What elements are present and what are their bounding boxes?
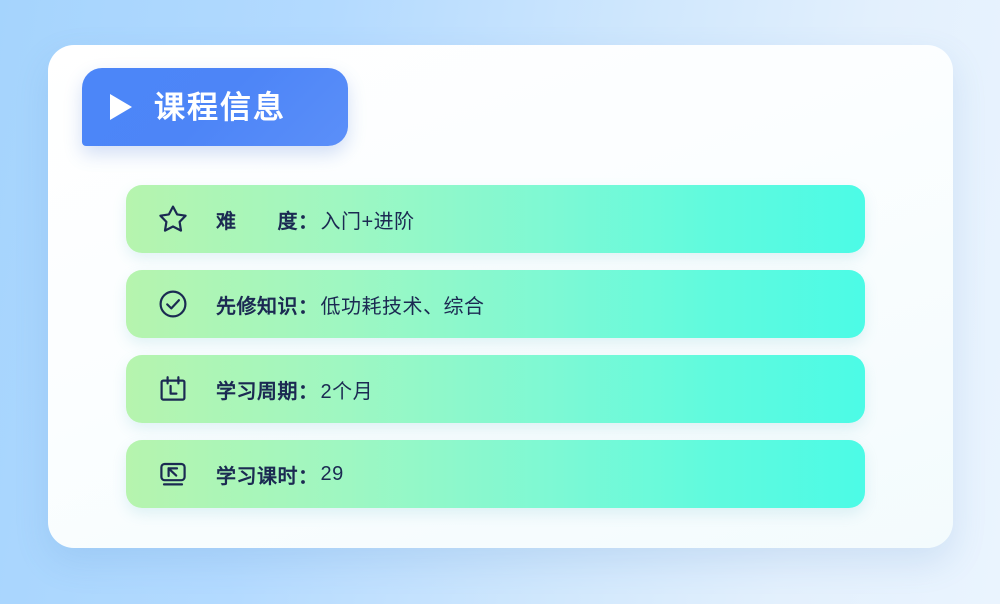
row-value: 低功耗技术、综合 — [321, 290, 485, 319]
star-icon — [156, 202, 190, 236]
row-label: 学习周期： — [216, 375, 319, 404]
course-info-list: 难 度： 入门+进阶 先修知识： 低功耗技术、综合 — [126, 185, 865, 508]
calendar-icon — [156, 372, 190, 406]
row-value: 2个月 — [321, 375, 374, 404]
row-value: 29 — [321, 463, 344, 486]
page-title: 课程信息 — [154, 92, 286, 123]
info-row-difficulty[interactable]: 难 度： 入门+进阶 — [126, 185, 865, 253]
info-row-lessons[interactable]: 学习课时： 29 — [126, 440, 865, 508]
section-title-tab: 课程信息 — [82, 68, 348, 146]
info-row-duration[interactable]: 学习周期： 2个月 — [126, 355, 865, 423]
row-label: 学习课时： — [216, 460, 319, 489]
check-circle-icon — [156, 287, 190, 321]
row-value: 入门+进阶 — [321, 205, 415, 234]
play-triangle-icon — [110, 94, 132, 120]
monitor-arrow-icon — [156, 457, 190, 491]
info-row-prerequisites[interactable]: 先修知识： 低功耗技术、综合 — [126, 270, 865, 338]
row-label: 难 度： — [216, 205, 319, 234]
row-label: 先修知识： — [216, 290, 319, 319]
course-info-card-stage: 课程信息 难 度： 入门+进阶 先修知识： 低功耗技术、综合 — [0, 0, 1000, 604]
